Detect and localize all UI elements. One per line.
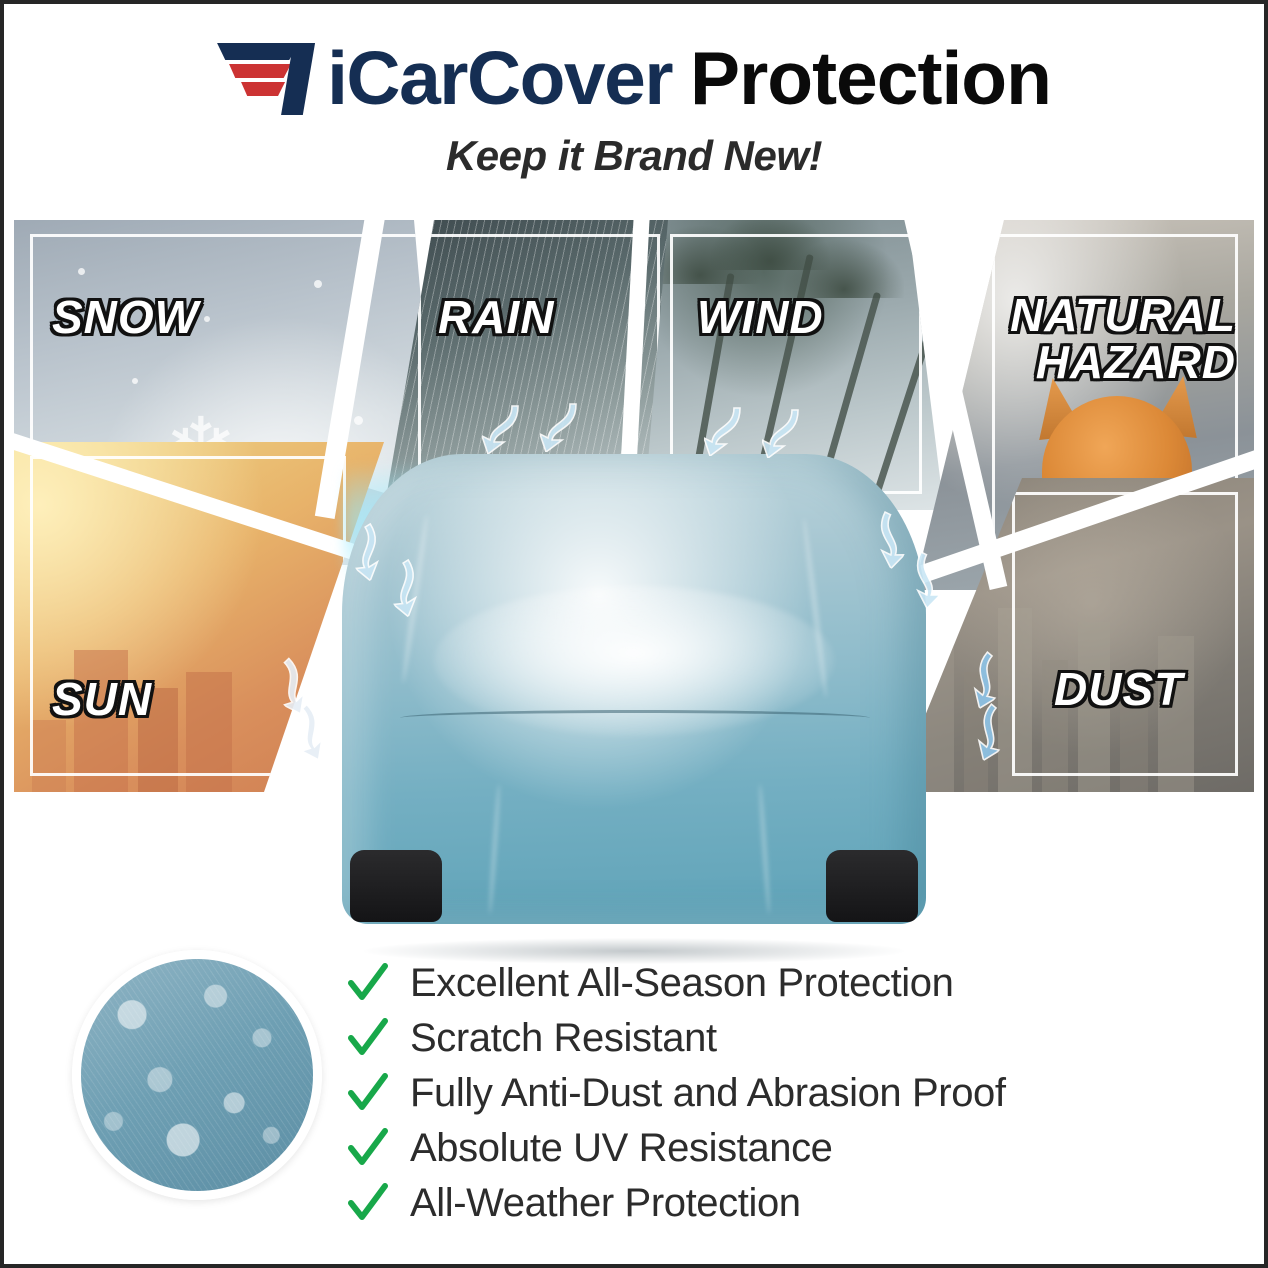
tire <box>350 850 442 922</box>
car-cover-product-image <box>334 436 934 956</box>
list-item: Excellent All-Season Protection <box>348 956 1178 1011</box>
brand-suffix: Protection <box>690 41 1051 116</box>
deflecting-arrow-icon <box>704 404 748 456</box>
panel-label-sun: SUN <box>52 676 152 723</box>
header: iCarCover Protection Keep it Brand New! <box>4 30 1264 180</box>
product-infographic: iCarCover Protection Keep it Brand New! … <box>0 0 1268 1268</box>
brand-name: iCarCover <box>327 41 672 116</box>
icarcover-wing-logo-icon <box>217 41 321 115</box>
panel-label-dust: DUST <box>1054 666 1183 713</box>
green-checkmark-icon <box>348 1128 388 1170</box>
feature-list: Excellent All-Season Protection Scratch … <box>348 956 1178 1231</box>
green-checkmark-icon <box>348 1073 388 1115</box>
page-title: iCarCover Protection <box>4 30 1264 126</box>
green-checkmark-icon <box>348 1018 388 1060</box>
list-item: All-Weather Protection <box>348 1176 1178 1231</box>
list-item: Scratch Resistant <box>348 1011 1178 1066</box>
deflecting-arrow-icon <box>762 406 806 458</box>
panel-label-wind: WIND <box>697 294 824 341</box>
feature-label: Absolute UV Resistance <box>410 1126 833 1171</box>
deflecting-arrow-icon <box>482 402 526 454</box>
feature-label: Excellent All-Season Protection <box>410 961 953 1006</box>
tire <box>826 850 918 922</box>
panel-label-snow: SNOW <box>52 294 199 341</box>
green-checkmark-icon <box>348 1183 388 1225</box>
water-beading-fabric-swatch <box>72 950 322 1200</box>
deflecting-arrow-icon <box>540 400 584 452</box>
feature-label: Scratch Resistant <box>410 1016 717 1061</box>
list-item: Fully Anti-Dust and Abrasion Proof <box>348 1066 1178 1121</box>
panel-label-rain: RAIN <box>438 294 554 341</box>
tagline: Keep it Brand New! <box>4 132 1264 180</box>
green-checkmark-icon <box>348 963 388 1005</box>
feature-label: Fully Anti-Dust and Abrasion Proof <box>410 1071 1006 1116</box>
list-item: Absolute UV Resistance <box>348 1121 1178 1176</box>
panel-label-natural-hazard: NATURAL HAZARD <box>960 292 1236 386</box>
feature-label: All-Weather Protection <box>410 1181 801 1226</box>
